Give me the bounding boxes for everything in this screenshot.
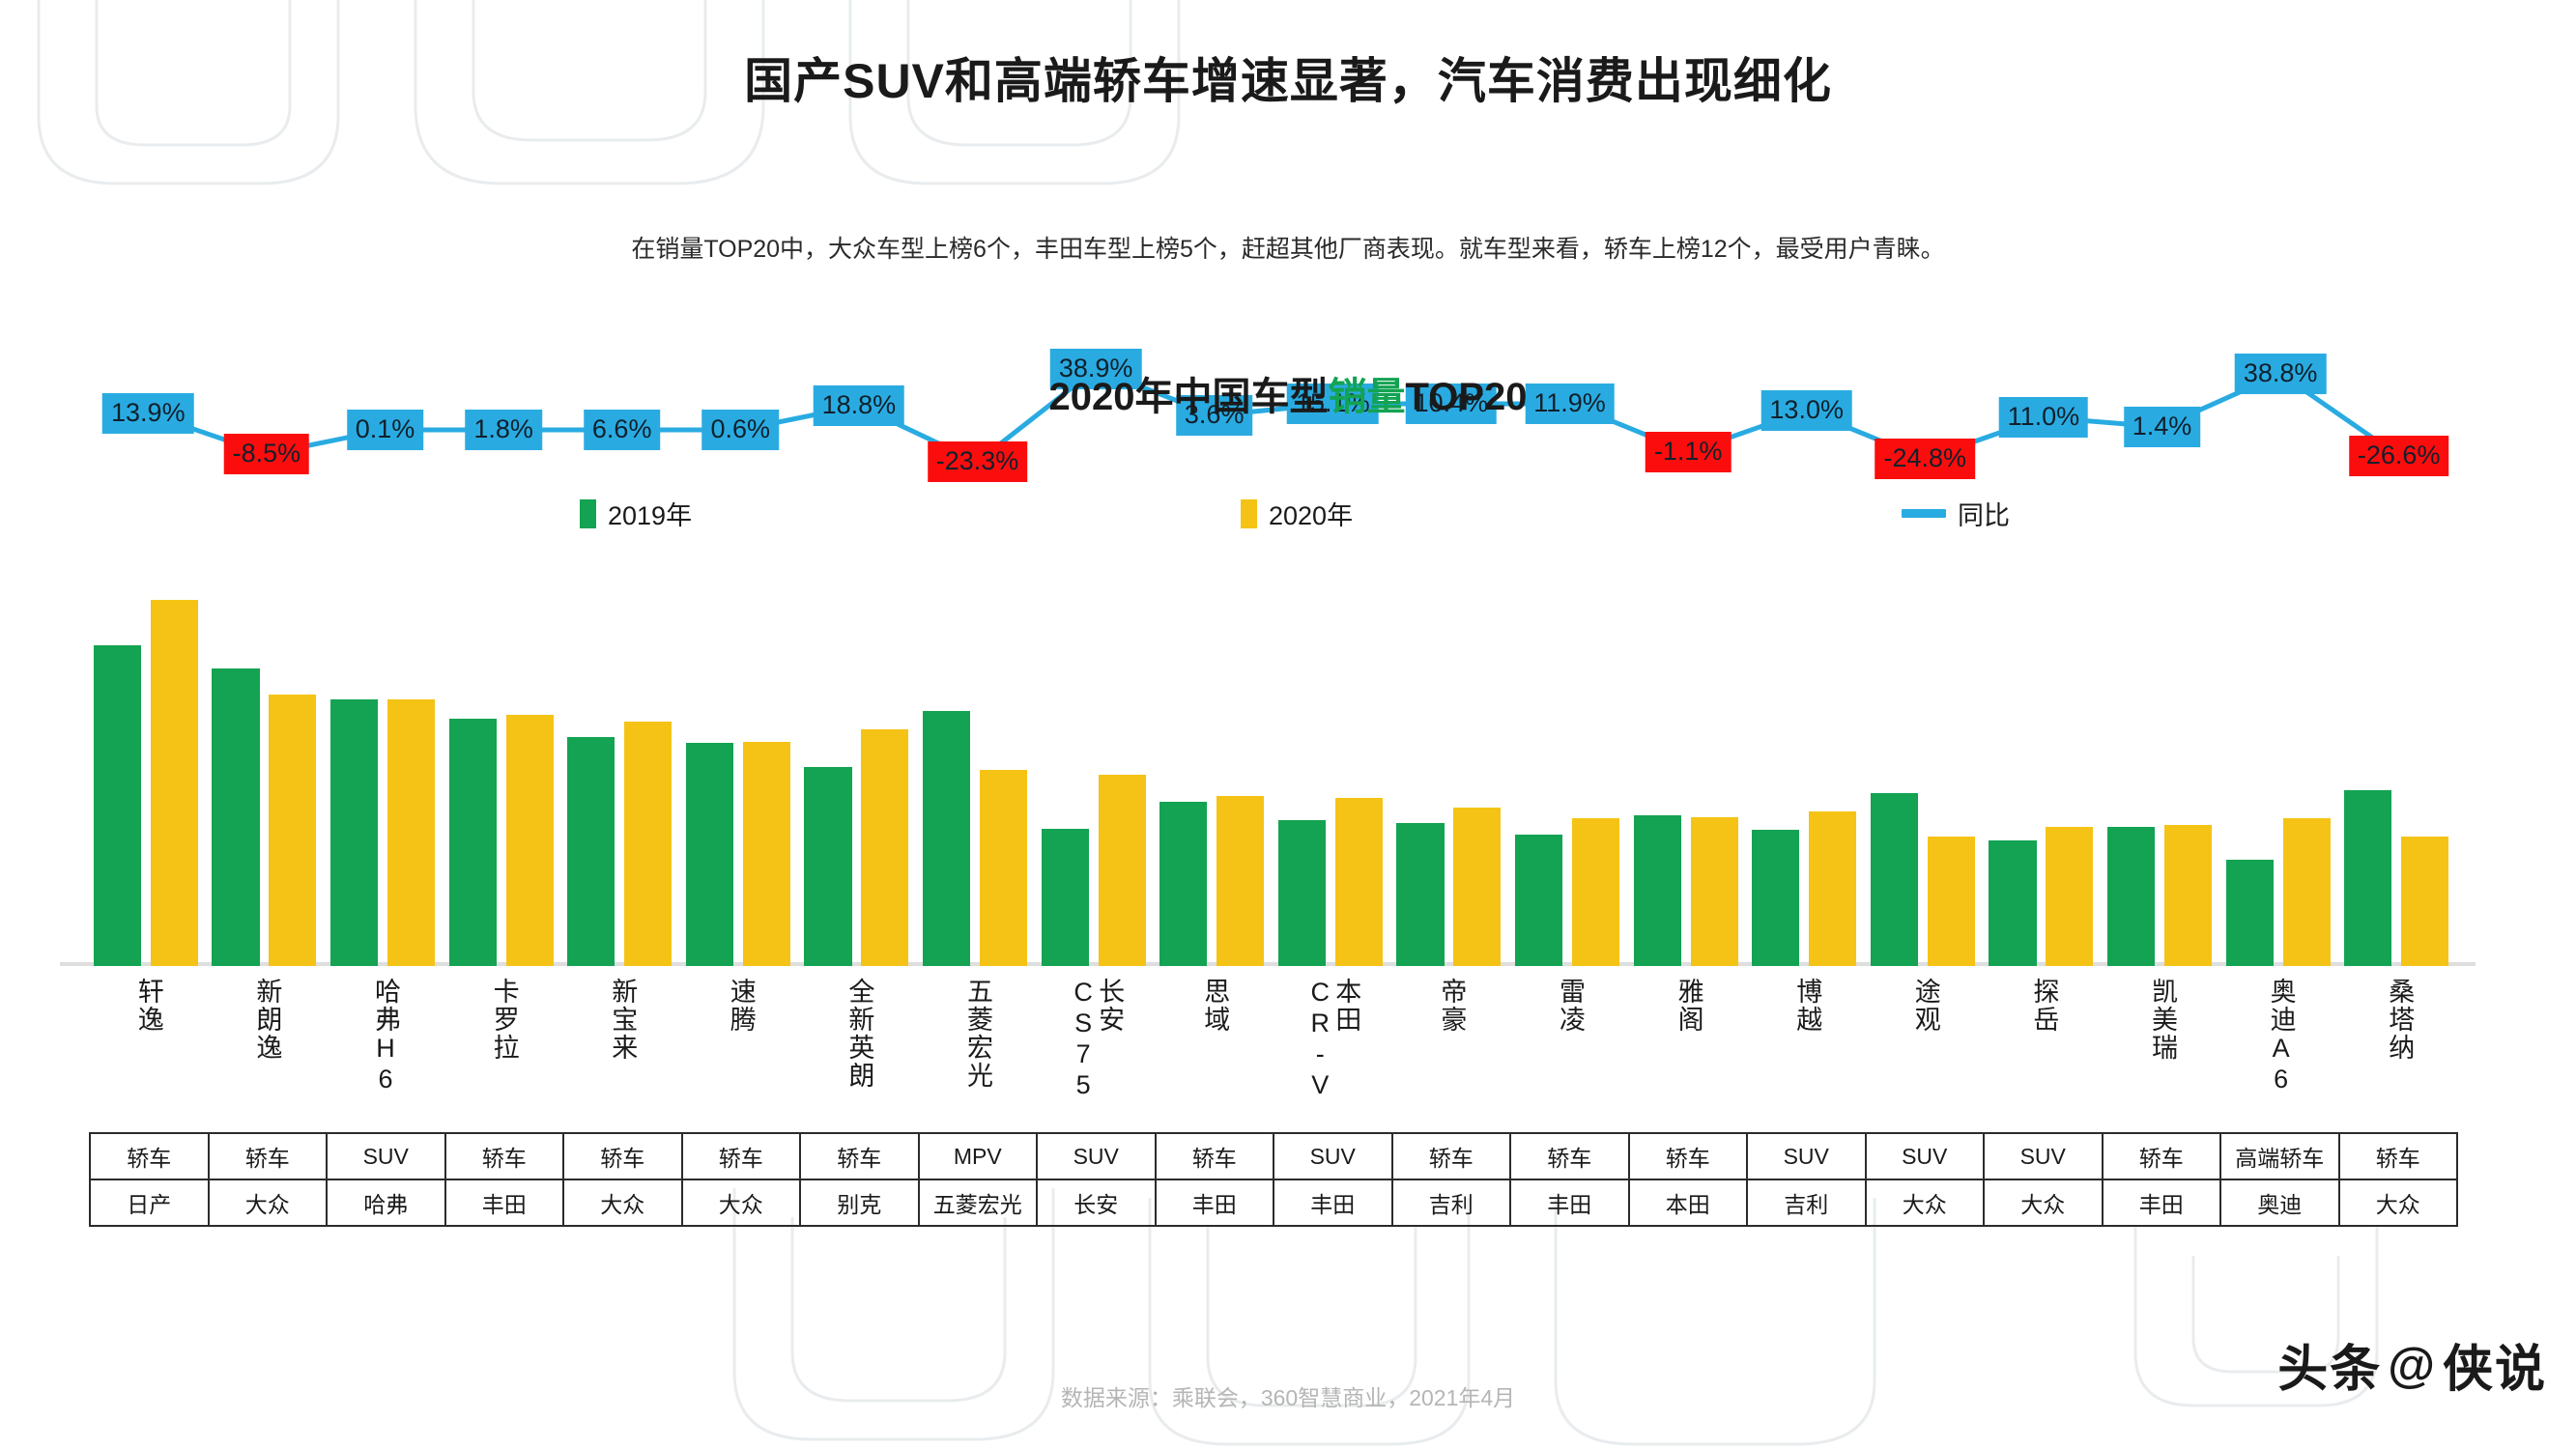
bar-chart: 13.9%-8.5%0.1%1.8%6.6%0.6%18.8%-23.3%38.…: [89, 580, 2458, 966]
watermark-at-icon: @: [2388, 1337, 2437, 1393]
table-cell: 丰田: [445, 1179, 564, 1226]
table-cell: 轿车: [2103, 1133, 2221, 1179]
bar-group[interactable]: [444, 580, 563, 966]
bar-group[interactable]: [1274, 580, 1392, 966]
bar-2019[interactable]: [1396, 823, 1444, 966]
watermark-left: 头条: [2277, 1328, 2382, 1401]
table-cell: 日产: [90, 1179, 209, 1226]
table-cell: 轿车: [1392, 1133, 1511, 1179]
chart-title-part2: TOP20: [1405, 376, 1527, 418]
x-axis-label: 途观: [1912, 978, 1938, 1034]
table-cell: 大众: [2339, 1179, 2458, 1226]
bar-group[interactable]: [800, 580, 919, 966]
table-cell: SUV: [1747, 1133, 1866, 1179]
bar-2020[interactable]: [1572, 818, 1619, 966]
bar-group[interactable]: [89, 580, 208, 966]
bar-2020[interactable]: [1809, 811, 1856, 966]
bar-2020[interactable]: [861, 729, 908, 966]
bar-2020[interactable]: [2046, 827, 2093, 966]
legend-label: 同比: [1958, 495, 2010, 532]
table-cell: 轿车: [209, 1133, 328, 1179]
bar-2019[interactable]: [923, 711, 970, 966]
source-note: 数据来源：乘联会，360智慧商业，2021年4月: [0, 1379, 2576, 1412]
bar-2019[interactable]: [2107, 827, 2155, 966]
table-cell: 丰田: [1510, 1179, 1629, 1226]
blue-line-icon: [1902, 509, 1946, 518]
bar-2019[interactable]: [804, 767, 851, 966]
bar-group[interactable]: [326, 580, 444, 966]
category-row: 轿车轿车SUV轿车轿车轿车轿车MPVSUV轿车SUV轿车轿车轿车SUVSUVSU…: [90, 1133, 2457, 1179]
table-cell: 大众: [563, 1179, 682, 1226]
x-axis-label: 新宝来: [609, 978, 635, 1062]
x-axis-label: 桑塔纳: [2386, 978, 2412, 1062]
x-axis-label: 雷凌: [1557, 978, 1583, 1034]
bar-group[interactable]: [1866, 580, 1985, 966]
spec-table: 轿车轿车SUV轿车轿车轿车轿车MPVSUV轿车SUV轿车轿车轿车SUVSUVSU…: [89, 1132, 2458, 1227]
brand-row: 日产大众哈弗丰田大众大众别克五菱宏光长安丰田丰田吉利丰田本田吉利大众大众丰田奥迪…: [90, 1179, 2457, 1226]
bar-2019[interactable]: [1634, 815, 1681, 966]
table-cell: 轿车: [682, 1133, 801, 1179]
table-cell: 奥迪: [2220, 1179, 2339, 1226]
table-cell: 丰田: [1274, 1179, 1392, 1226]
page-title: 国产SUV和高端轿车增速显著，汽车消费出现细化: [0, 43, 2576, 112]
bar-2020[interactable]: [1335, 798, 1383, 966]
bar-group[interactable]: [1629, 580, 1748, 966]
table-cell: 别克: [800, 1179, 919, 1226]
table-cell: 丰田: [1156, 1179, 1274, 1226]
bar-2019[interactable]: [1515, 835, 1562, 966]
bar-group[interactable]: [1510, 580, 1629, 966]
spec-table-body: 轿车轿车SUV轿车轿车轿车轿车MPVSUV轿车SUV轿车轿车轿车SUVSUVSU…: [90, 1133, 2457, 1226]
plot-area: [89, 580, 2458, 966]
yellow-square-icon: [1241, 499, 1257, 528]
bar-2020[interactable]: [1691, 817, 1738, 966]
chart-title-highlight: 销量: [1328, 376, 1405, 418]
table-cell: 轿车: [1629, 1133, 1748, 1179]
table-cell: 大众: [682, 1179, 801, 1226]
bar-2020[interactable]: [1928, 837, 1975, 966]
table-cell: 丰田: [2103, 1179, 2221, 1226]
x-axis-label: 帝豪: [1438, 978, 1464, 1034]
table-cell: SUV: [1866, 1133, 1985, 1179]
x-axis-label: 全新英朗: [845, 978, 872, 1090]
bar-2020[interactable]: [1099, 775, 1146, 966]
legend-item-2[interactable]: 同比: [1902, 495, 2010, 532]
bar-2019[interactable]: [686, 743, 733, 966]
legend-label: 2020年: [1269, 495, 1353, 532]
green-square-icon: [580, 499, 596, 528]
table-cell: 轿车: [445, 1133, 564, 1179]
bar-2019[interactable]: [330, 699, 378, 966]
bar-group[interactable]: [2221, 580, 2340, 966]
table-cell: 大众: [209, 1179, 328, 1226]
table-cell: 吉利: [1747, 1179, 1866, 1226]
table-cell: 高端轿车: [2220, 1133, 2339, 1179]
bar-group[interactable]: [918, 580, 1037, 966]
bar-2019[interactable]: [1159, 802, 1207, 966]
yoy-label-negative[interactable]: -26.6%: [2349, 436, 2449, 476]
bar-group[interactable]: [562, 580, 681, 966]
bar-2020[interactable]: [1453, 808, 1501, 966]
x-axis-label: 哈弗H6: [372, 978, 398, 1095]
table-cell: 吉利: [1392, 1179, 1511, 1226]
bar-2020[interactable]: [2283, 818, 2331, 966]
bar-2019[interactable]: [1752, 830, 1799, 966]
table-cell: 轿车: [800, 1133, 919, 1179]
table-cell: SUV: [1984, 1133, 2103, 1179]
x-axis-label: 博越: [1793, 978, 1819, 1034]
bar-2019[interactable]: [94, 645, 141, 966]
table-cell: MPV: [919, 1133, 1038, 1179]
yoy-label-negative[interactable]: -23.3%: [928, 441, 1028, 482]
table-cell: 哈弗: [327, 1179, 445, 1226]
bar-group[interactable]: [2339, 580, 2458, 966]
x-axis-label: 探岳: [2030, 978, 2056, 1034]
bar-2020[interactable]: [1216, 796, 1264, 966]
bar-2020[interactable]: [980, 770, 1027, 966]
table-cell: SUV: [327, 1133, 445, 1179]
table-cell: 本田: [1629, 1179, 1748, 1226]
table-cell: 轿车: [1156, 1133, 1274, 1179]
bar-group[interactable]: [1392, 580, 1511, 966]
table-cell: SUV: [1274, 1133, 1392, 1179]
table-cell: 长安: [1037, 1179, 1156, 1226]
bar-2020[interactable]: [2401, 837, 2448, 966]
legend-item-1[interactable]: 2020年: [1241, 495, 1353, 532]
bar-group[interactable]: [1985, 580, 2104, 966]
x-axis-label: 长安CS75: [1070, 978, 1122, 1122]
bar-2020[interactable]: [506, 715, 554, 966]
bar-2020[interactable]: [2164, 825, 2212, 966]
table-cell: 轿车: [90, 1133, 209, 1179]
bar-group[interactable]: [681, 580, 800, 966]
bar-2020[interactable]: [624, 722, 672, 966]
watermark: 头条 @ 侠说: [2277, 1328, 2547, 1401]
x-axis-label: 轩逸: [135, 978, 161, 1034]
chart-legend: 2019年2020年同比: [580, 495, 2010, 532]
x-axis-label: 速腾: [728, 978, 754, 1034]
x-axis-label: 本田CR-V: [1306, 978, 1359, 1122]
yoy-label-negative[interactable]: -1.1%: [1646, 432, 1732, 472]
page-subtitle: 在销量TOP20中，大众车型上榜6个，丰田车型上榜5个，赶超其他厂商表现。就车型…: [0, 230, 2576, 265]
bar-2019[interactable]: [1871, 793, 1918, 966]
bar-group[interactable]: [208, 580, 327, 966]
bar-2019[interactable]: [1042, 829, 1089, 966]
bar-2020[interactable]: [743, 742, 790, 966]
x-axis-label: 卡罗拉: [491, 978, 517, 1062]
x-axis-label: 新朗逸: [253, 978, 279, 1062]
bar-2020[interactable]: [387, 699, 435, 966]
bar-group[interactable]: [1747, 580, 1866, 966]
bar-2019[interactable]: [449, 719, 497, 966]
x-axis-label: 思域: [1201, 978, 1227, 1034]
x-axis-labels: 轩逸新朗逸哈弗H6卡罗拉新宝来速腾全新英朗五菱宏光长安CS75思域本田CR-V帝…: [89, 978, 2458, 1122]
bar-2019[interactable]: [567, 737, 615, 966]
yoy-label-negative[interactable]: -8.5%: [224, 434, 310, 474]
bar-group[interactable]: [2103, 580, 2221, 966]
table-cell: 轿车: [2339, 1133, 2458, 1179]
bar-2019[interactable]: [2344, 790, 2391, 966]
bar-2019[interactable]: [1989, 840, 2036, 966]
x-axis-label: 奥迪A6: [2268, 978, 2294, 1095]
table-cell: SUV: [1037, 1133, 1156, 1179]
table-cell: 轿车: [1510, 1133, 1629, 1179]
x-axis-label: 雅阁: [1675, 978, 1702, 1034]
x-axis-label: 凯美瑞: [2149, 978, 2175, 1062]
legend-item-0[interactable]: 2019年: [580, 495, 692, 532]
table-cell: 大众: [1984, 1179, 2103, 1226]
table-cell: 五菱宏光: [919, 1179, 1038, 1226]
chart-title: 2020年中国车型销量TOP20: [0, 365, 2576, 421]
table-cell: 轿车: [563, 1133, 682, 1179]
bar-2020[interactable]: [269, 695, 316, 966]
bar-2019[interactable]: [2226, 860, 2274, 966]
bar-group[interactable]: [1037, 580, 1156, 966]
bar-2020[interactable]: [151, 600, 198, 966]
watermark-right: 侠说: [2443, 1328, 2547, 1401]
bar-2019[interactable]: [1278, 820, 1326, 966]
x-axis-label: 五菱宏光: [964, 978, 990, 1090]
legend-label: 2019年: [608, 495, 692, 532]
bar-group[interactable]: [1155, 580, 1274, 966]
chart-title-part1: 2020年中国车型: [1049, 376, 1329, 418]
bar-2019[interactable]: [212, 668, 259, 966]
table-cell: 大众: [1866, 1179, 1985, 1226]
yoy-label-negative[interactable]: -24.8%: [1875, 439, 1976, 479]
